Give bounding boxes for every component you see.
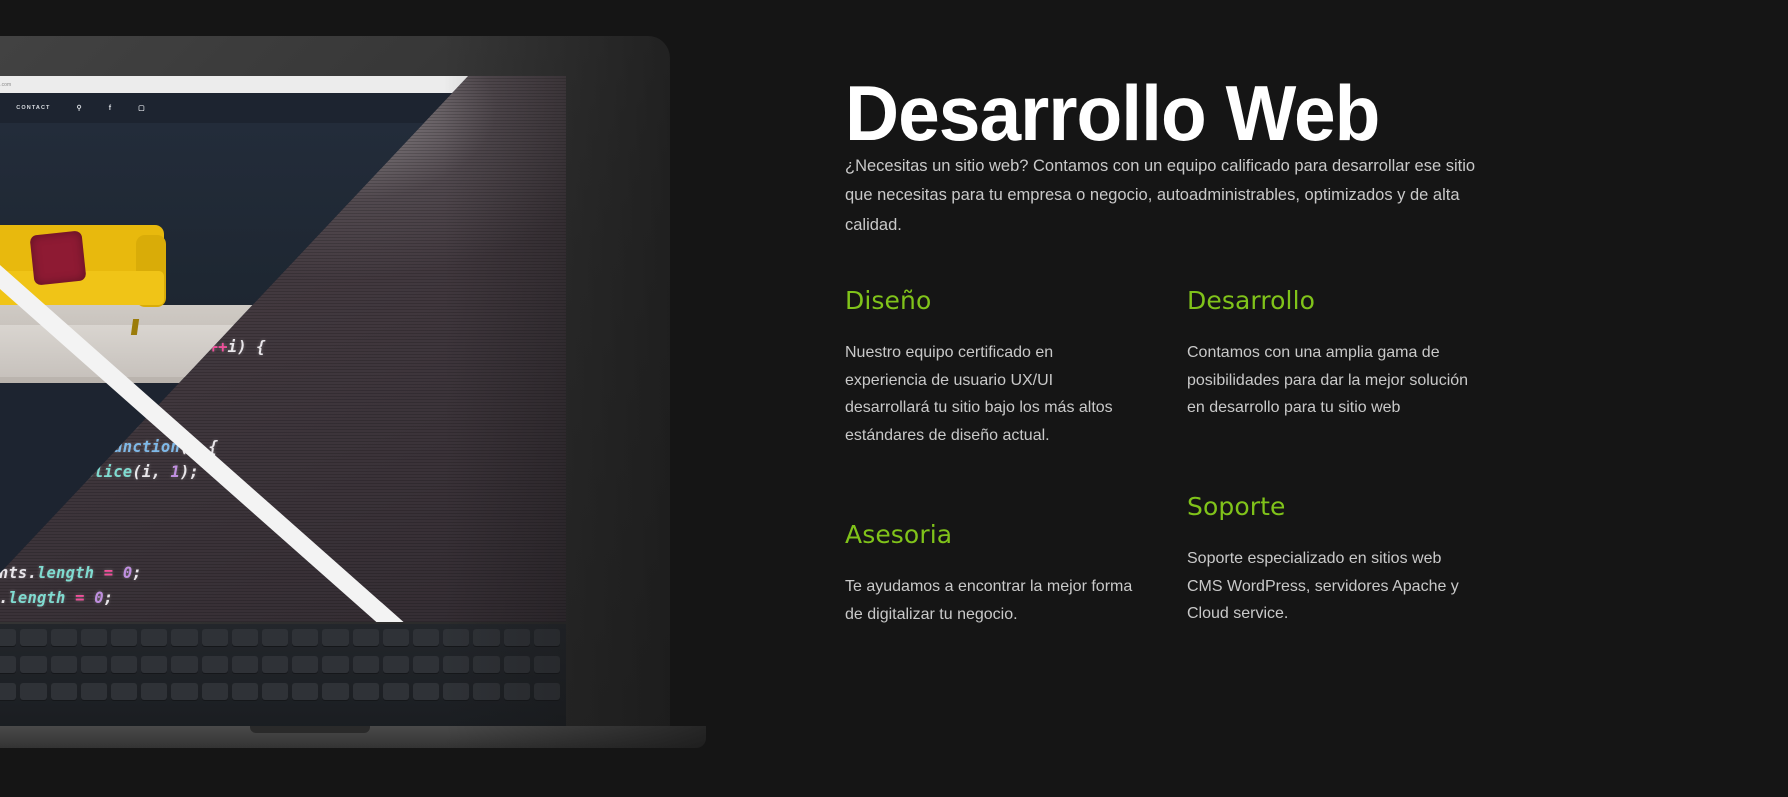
service-card-soporte: Soporte Soporte especializado en sitios … bbox=[1187, 492, 1487, 628]
keyboard-row bbox=[0, 624, 566, 651]
service-body: Nuestro equipo certificado en experienci… bbox=[845, 339, 1133, 449]
hero-description: ¿Necesitas un sitio web? Contamos con un… bbox=[845, 152, 1495, 240]
page-title: Desarrollo Web bbox=[845, 68, 1379, 159]
keyboard-row bbox=[0, 651, 566, 678]
service-body: Contamos con una amplia gama de posibili… bbox=[1187, 339, 1481, 422]
service-title: Soporte bbox=[1187, 492, 1487, 521]
yellow-sofa bbox=[0, 225, 164, 321]
browser-url: bprintsite.com bbox=[0, 82, 11, 88]
service-card-desarrollo: Desarrollo Contamos con una amplia gama … bbox=[1187, 286, 1487, 422]
service-body: Soporte especializado en sitios web CMS … bbox=[1187, 545, 1481, 628]
service-title: Diseño bbox=[845, 286, 1145, 315]
service-card-diseno: Diseño Nuestro equipo certificado en exp… bbox=[845, 286, 1145, 449]
service-title: Desarrollo bbox=[1187, 286, 1487, 315]
instagram-icon: ▢ bbox=[138, 104, 146, 112]
service-card-asesoria: Asesoria Te ayudamos a encontrar la mejo… bbox=[845, 520, 1145, 628]
service-title: Asesoria bbox=[845, 520, 1145, 549]
facebook-icon: f bbox=[109, 105, 112, 112]
laptop-base-notch bbox=[250, 726, 370, 733]
content-column: Desarrollo Web ¿Necesitas un sitio web? … bbox=[845, 0, 1788, 797]
service-body: Te ayudamos a encontrar la mejor forma d… bbox=[845, 573, 1133, 628]
search-icon: ⚲ bbox=[76, 104, 82, 112]
red-pillow bbox=[30, 230, 87, 285]
laptop-collage-visual: gSwitchWatchAction(valueements.length; i… bbox=[0, 0, 806, 797]
laptop-keyboard bbox=[0, 624, 566, 732]
keyboard-row bbox=[0, 678, 566, 705]
nav-item-contact: CONTACT bbox=[16, 105, 50, 111]
laptop-screen: gSwitchWatchAction(valueements.length; i… bbox=[0, 76, 566, 622]
hero-section: gSwitchWatchAction(valueements.length; i… bbox=[0, 0, 1788, 797]
